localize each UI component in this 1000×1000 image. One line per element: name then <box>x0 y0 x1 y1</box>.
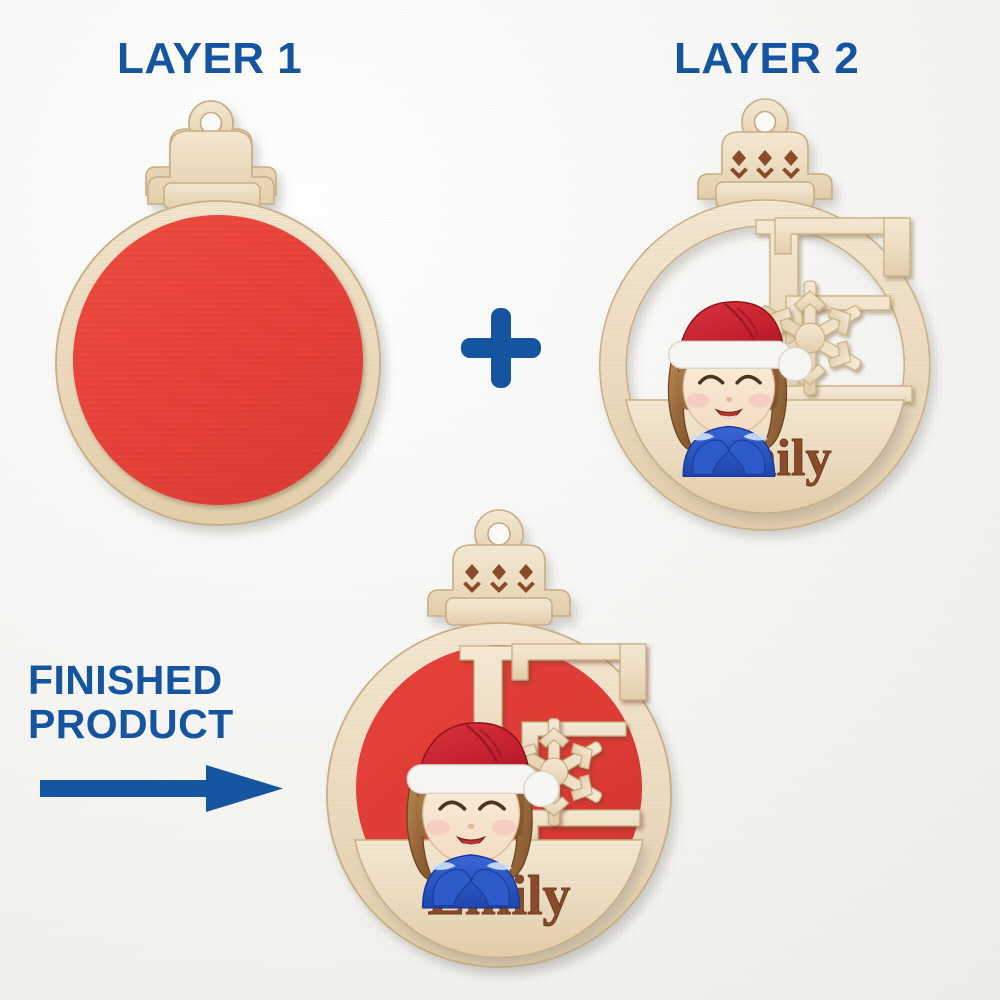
engraved-name-final: Emily <box>427 865 570 927</box>
plus-sign-vertical-bar <box>491 308 511 388</box>
ornament-final-cap <box>428 510 570 625</box>
finished-product-block: FINISHED PRODUCT <box>28 658 298 818</box>
finished-product-heading-line2: PRODUCT <box>28 702 298 746</box>
ornament-layer2: Emily <box>598 100 933 535</box>
layer1-heading: LAYER 1 <box>117 34 302 84</box>
ornament-layer2-cap <box>698 99 832 208</box>
infographic-canvas: LAYER 1 LAYER 2 FINISHED PRODUCT <box>0 0 1000 1000</box>
ornament-layer1-red-disc <box>73 215 363 505</box>
ornament-finished-product: Emily <box>322 510 677 970</box>
plus-sign <box>461 308 541 388</box>
finished-product-heading-line1: FINISHED <box>28 658 298 702</box>
layer2-heading: LAYER 2 <box>674 34 859 84</box>
arrow-right-icon <box>28 760 298 818</box>
engraved-name-layer2: Emily <box>699 430 832 487</box>
ornament-layer1 <box>58 105 388 540</box>
